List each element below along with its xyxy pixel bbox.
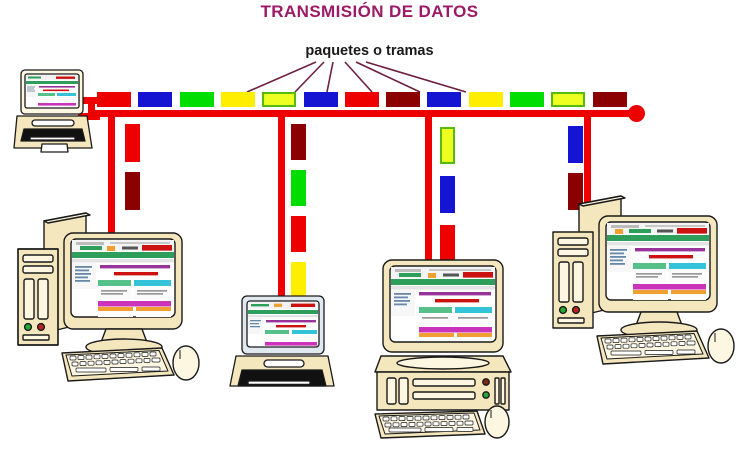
device-laptop-top-left[interactable] [12, 68, 94, 156]
bus-terminator [628, 105, 645, 122]
bus-packet [386, 92, 420, 107]
network-diagram-canvas: TRANSMISIÓN DE DATOS paquetes o tramas [0, 0, 739, 461]
drop-1-packet [125, 124, 140, 162]
device-desktop-bottom-center-right[interactable] [373, 252, 521, 440]
bus-packet [345, 92, 379, 107]
device-desktop-bottom-left[interactable] [14, 205, 200, 390]
bus-packet [262, 92, 296, 107]
bus-packet [97, 92, 131, 107]
bus-packet [551, 92, 585, 107]
drop-2-packet [291, 124, 306, 160]
drop-4-packet [568, 126, 583, 163]
drop-2-packet [291, 262, 306, 298]
bus-backbone-line [88, 110, 633, 117]
drop-3-packet [440, 176, 455, 213]
bus-packet [180, 92, 214, 107]
bus-packet [593, 92, 627, 107]
bus-packet [138, 92, 172, 107]
device-desktop-right[interactable] [549, 188, 735, 373]
bus-packet [304, 92, 338, 107]
drop-3-packet [440, 127, 455, 164]
bus-packet [221, 92, 255, 107]
bus-packet [427, 92, 461, 107]
drop-2-packet [291, 170, 306, 206]
drop-line-2 [278, 114, 285, 304]
bus-packet [469, 92, 503, 107]
drop-2-packet [291, 216, 306, 252]
drop-line-3 [425, 114, 432, 262]
bus-packet [510, 92, 544, 107]
device-laptop-bottom-center[interactable] [228, 294, 336, 392]
